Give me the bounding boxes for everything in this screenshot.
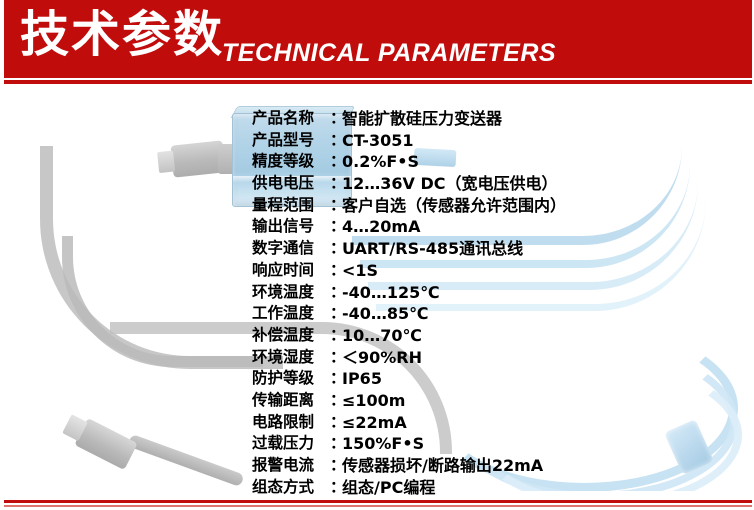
spec-label: 补偿温度 (252, 325, 340, 347)
spec-label: 产品名称 (252, 108, 340, 130)
footer-rule (4, 500, 752, 503)
spec-label: 数字通信 (252, 238, 340, 260)
spec-row: 传输距离 ： ≤100m (0, 390, 754, 412)
spec-value: CT-3051 (342, 130, 413, 152)
spec-row: 组态方式 ： 组态/PC编程 (0, 477, 754, 499)
spec-value: 12…36V DC（宽电压供电） (342, 173, 558, 195)
spec-value: 客户自选（传感器允许范围内） (342, 195, 566, 217)
spec-label: 报警电流 (252, 455, 340, 477)
spec-value: <1S (342, 260, 378, 282)
spec-value: 传感器损坏/断路输出22mA (342, 455, 543, 477)
header-accent-stripe (4, 80, 752, 84)
spec-label: 响应时间 (252, 260, 340, 282)
spec-row: 电路限制 ： ≤22mA (0, 412, 754, 434)
technical-parameters-page: 技术参数 TECHNICAL PARAMETERS 产品名称 ： 智能扩散硅压力… (0, 0, 754, 510)
spec-value: 10…70℃ (342, 325, 422, 347)
spec-value: -40…85℃ (342, 303, 429, 325)
header-banner: 技术参数 TECHNICAL PARAMETERS (4, 0, 752, 78)
spec-label: 产品型号 (252, 130, 340, 152)
spec-row: 环境温度 ： -40…125℃ (0, 282, 754, 304)
spec-value: 智能扩散硅压力变送器 (342, 108, 502, 130)
spec-row: 数字通信 ： UART/RS-485通讯总线 (0, 238, 754, 260)
spec-label: 过载压力 (252, 433, 340, 455)
spec-row: 量程范围 ： 客户自选（传感器允许范围内） (0, 195, 754, 217)
page-title-chinese: 技术参数 (20, 4, 224, 66)
spec-row: 精度等级 ： 0.2%F•S (0, 151, 754, 173)
footer-rule-light (4, 505, 752, 507)
spec-row: 环境湿度 ： ＜90%RH (0, 347, 754, 369)
spec-label: 输出信号 (252, 216, 340, 238)
spec-value: 组态/PC编程 (342, 477, 435, 499)
page-title-english: TECHNICAL PARAMETERS (222, 38, 556, 68)
spec-label: 组态方式 (252, 477, 340, 499)
spec-value: -40…125℃ (342, 282, 440, 304)
spec-value: IP65 (342, 368, 382, 390)
spec-row: 过载压力 ： 150%F•S (0, 433, 754, 455)
spec-value: ＜90%RH (342, 347, 422, 369)
specification-list: 产品名称 ： 智能扩散硅压力变送器 产品型号 ： CT-3051 精度等级 ： … (0, 108, 754, 498)
spec-label: 环境湿度 (252, 347, 340, 369)
spec-value: ≤22mA (342, 412, 407, 434)
spec-value: 4…20mA (342, 216, 420, 238)
spec-row: 输出信号 ： 4…20mA (0, 216, 754, 238)
spec-label: 电路限制 (252, 412, 340, 434)
spec-label: 精度等级 (252, 151, 340, 173)
spec-value: ≤100m (342, 390, 405, 412)
spec-row: 产品名称 ： 智能扩散硅压力变送器 (0, 108, 754, 130)
spec-row: 补偿温度 ： 10…70℃ (0, 325, 754, 347)
spec-value: 0.2%F•S (342, 151, 419, 173)
spec-row: 产品型号 ： CT-3051 (0, 130, 754, 152)
spec-row: 报警电流 ： 传感器损坏/断路输出22mA (0, 455, 754, 477)
spec-row: 供电电压 ： 12…36V DC（宽电压供电） (0, 173, 754, 195)
spec-value: 150%F•S (342, 433, 424, 455)
spec-label: 传输距离 (252, 390, 340, 412)
spec-row: 响应时间 ： <1S (0, 260, 754, 282)
spec-label: 量程范围 (252, 195, 340, 217)
spec-label: 供电电压 (252, 173, 340, 195)
spec-label: 工作温度 (252, 303, 340, 325)
spec-label: 防护等级 (252, 368, 340, 390)
spec-label: 环境温度 (252, 282, 340, 304)
spec-value: UART/RS-485通讯总线 (342, 238, 523, 260)
spec-row: 防护等级 ： IP65 (0, 368, 754, 390)
spec-row: 工作温度 ： -40…85℃ (0, 303, 754, 325)
